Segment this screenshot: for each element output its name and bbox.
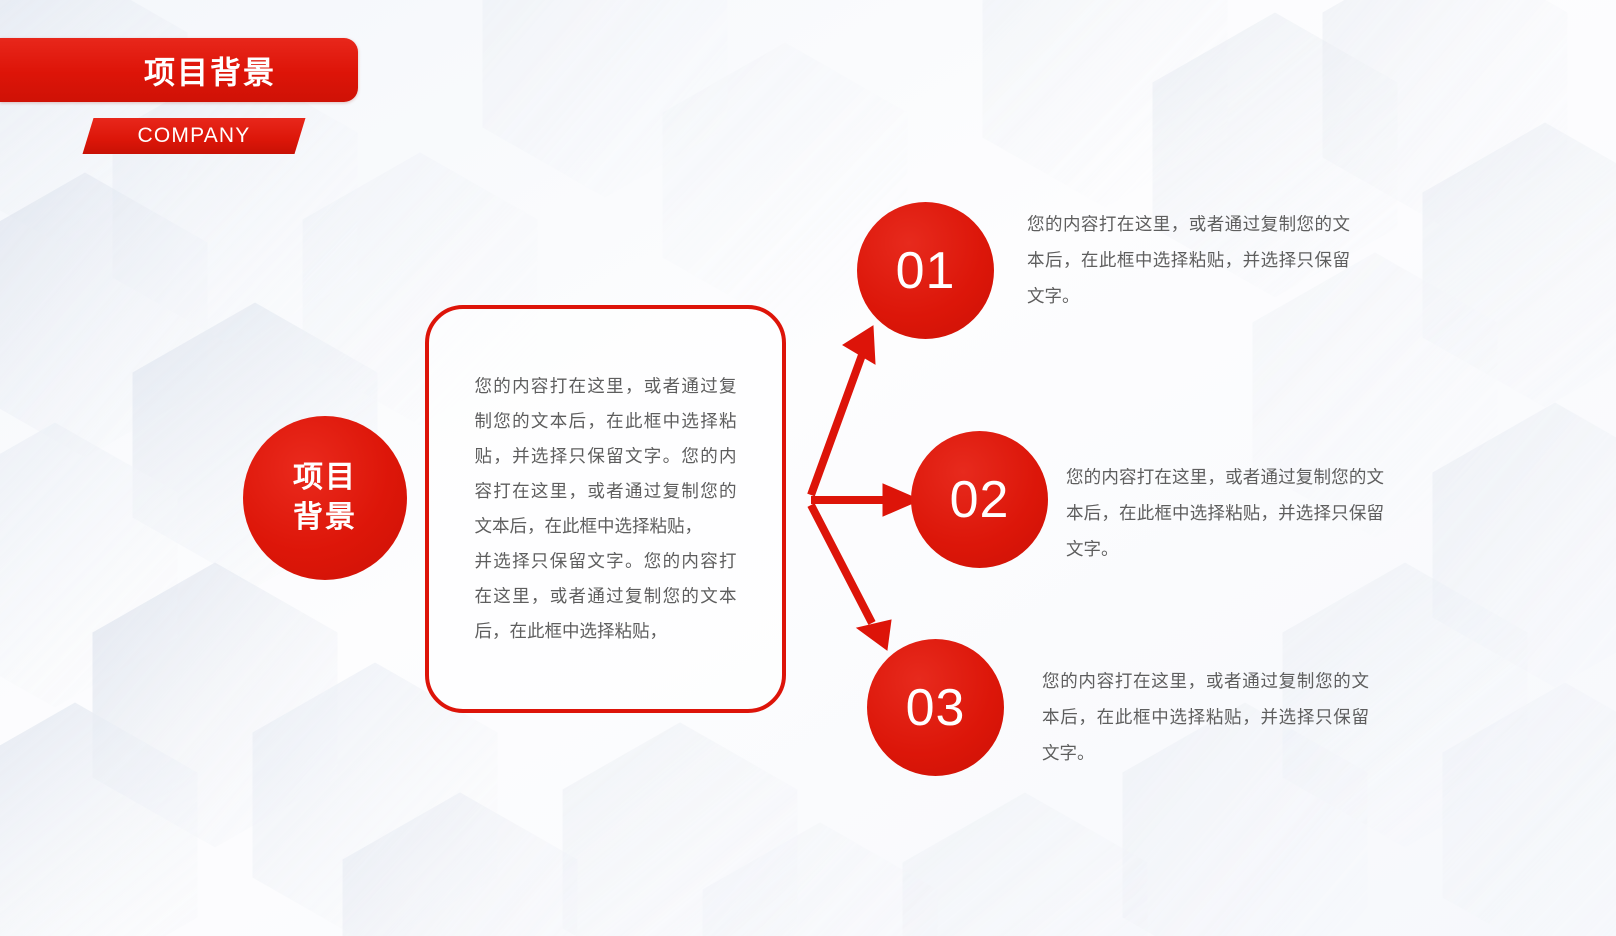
arrow-to-item-02 (811, 484, 920, 516)
main-content-box: 您的内容打在这里，或者通过复制您的文本后，在此框中选择粘贴，并选择只保留文字。您… (425, 305, 786, 713)
item-02-description: 您的内容打在这里，或者通过复制您的文本后，在此框中选择粘贴，并选择只保留文字。 (1066, 460, 1384, 568)
item-03-description-block: 您的内容打在这里，或者通过复制您的文本后，在此框中选择粘贴，并选择只保留文字。 (1042, 664, 1369, 772)
arrow-to-item-01 (811, 326, 875, 495)
item-01-description-block: 您的内容打在这里，或者通过复制您的文本后，在此框中选择粘贴，并选择只保留文字。 (1027, 207, 1350, 315)
item-03-number: 03 (906, 682, 966, 734)
item-02-number: 02 (950, 474, 1010, 526)
center-topic-circle: 项目 背景 (243, 416, 407, 580)
item-01-number: 01 (896, 245, 956, 297)
arrow-to-item-03 (811, 505, 891, 650)
item-01-description: 您的内容打在这里，或者通过复制您的文本后，在此框中选择粘贴，并选择只保留文字。 (1027, 207, 1350, 315)
center-topic-line-1: 项目 (293, 458, 357, 498)
item-02-description-block: 您的内容打在这里，或者通过复制您的文本后，在此框中选择粘贴，并选择只保留文字。 (1066, 460, 1384, 568)
item-03-number-circle: 03 (867, 639, 1004, 776)
item-01-number-circle: 01 (857, 202, 994, 339)
center-topic-line-2: 背景 (293, 498, 357, 538)
main-content-text: 您的内容打在这里，或者通过复制您的文本后，在此框中选择粘贴，并选择只保留文字。您… (475, 369, 737, 649)
item-02-number-circle: 02 (911, 431, 1048, 568)
item-03-description: 您的内容打在这里，或者通过复制您的文本后，在此框中选择粘贴，并选择只保留文字。 (1042, 664, 1369, 772)
slide-canvas: 项目背景 COMPANY 项目 背景 您的内容打在这里，或者通过复制您的文本后，… (0, 0, 1616, 936)
main-content-paragraph-2: 并选择只保留文字。您的内容打在这里，或者通过复制您的文本后，在此框中选择粘贴， (475, 544, 737, 649)
main-content-paragraph-1: 您的内容打在这里，或者通过复制您的文本后，在此框中选择粘贴，并选择只保留文字。您… (475, 369, 737, 544)
